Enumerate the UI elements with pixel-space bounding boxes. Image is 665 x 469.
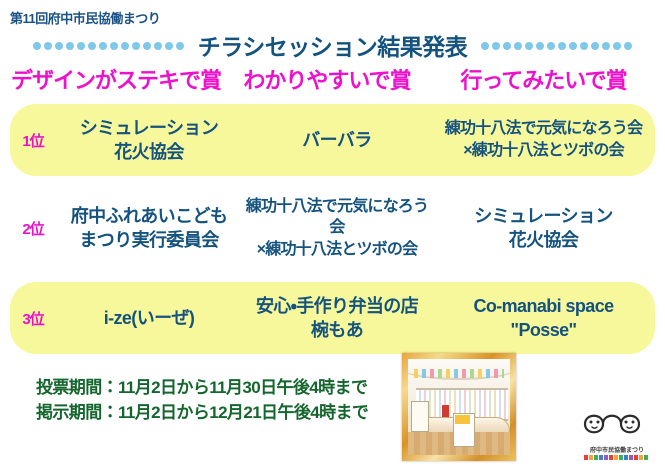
display-period: 掲示期間：11月2日から12月21日午後4時まで <box>36 401 368 426</box>
rank-label-3: 3位 <box>10 308 56 329</box>
result-rank1-visit: 練功十八法で元気になろう会 ×練功十八法とツボの会 <box>432 118 655 161</box>
logo-caption: 府中市民協働まつり <box>577 445 657 454</box>
award-category-clarity: わかりやすいで賞 <box>232 63 422 95</box>
page-title: チラシセッション結果発表 <box>198 28 468 62</box>
decorative-dots-right <box>481 42 632 50</box>
decorative-dots-left <box>33 42 184 50</box>
award-category-header-row: デザインがステキで賞 わかりやすいで賞 行ってみたいで賞 <box>0 63 665 95</box>
award-category-visit: 行ってみたいで賞 <box>422 63 665 95</box>
venue-photo-image <box>408 359 510 455</box>
result-row-rank3: 3位 i-ze(いーぜ) 安心・手作り弁当の店 椀もあ Co-manabi sp… <box>10 282 655 354</box>
result-rank2-visit: シミュレーション 花火協会 <box>432 204 655 253</box>
result-rank3-clarity: 安心・手作り弁当の店 椀もあ <box>242 294 432 343</box>
rank-label-2: 2位 <box>10 218 56 239</box>
venue-photo <box>402 353 516 461</box>
voting-period: 投票期間：11月2日から11月30日午後4時まで <box>36 376 368 401</box>
result-row-rank2: 2位 府中ふれあいこども まつり実行委員会 練功十八法で元気になろう会 ×練功十… <box>10 192 655 264</box>
award-category-design: デザインがステキで賞 <box>0 63 232 95</box>
logo-flag-garland-icon <box>584 455 650 460</box>
result-row-rank1: 1位 シミュレーション 花火協会 バーバラ 練功十八法で元気になろう会 ×練功十… <box>10 104 655 176</box>
rank-label-1: 1位 <box>10 130 56 151</box>
infinity-faces-icon <box>577 404 657 444</box>
result-rank3-visit: Co-manabi space "Posse" <box>432 294 655 343</box>
result-rank1-clarity: バーバラ <box>242 128 432 152</box>
result-rank2-design: 府中ふれあいこども まつり実行委員会 <box>56 204 242 253</box>
title-row: チラシセッション結果発表 <box>0 30 665 60</box>
result-rank3-design: i-ze(いーぜ) <box>56 306 242 330</box>
period-info: 投票期間：11月2日から11月30日午後4時まで 掲示期間：11月2日から12月… <box>36 376 368 425</box>
event-name: 第11回府中市民協働まつり <box>10 8 160 27</box>
result-rank1-design: シミュレーション 花火協会 <box>56 116 242 165</box>
festival-logo: 府中市民協働まつり <box>577 404 657 462</box>
result-rank2-clarity: 練功十八法で元気になろう会 ×練功十八法とツボの会 <box>242 196 432 261</box>
